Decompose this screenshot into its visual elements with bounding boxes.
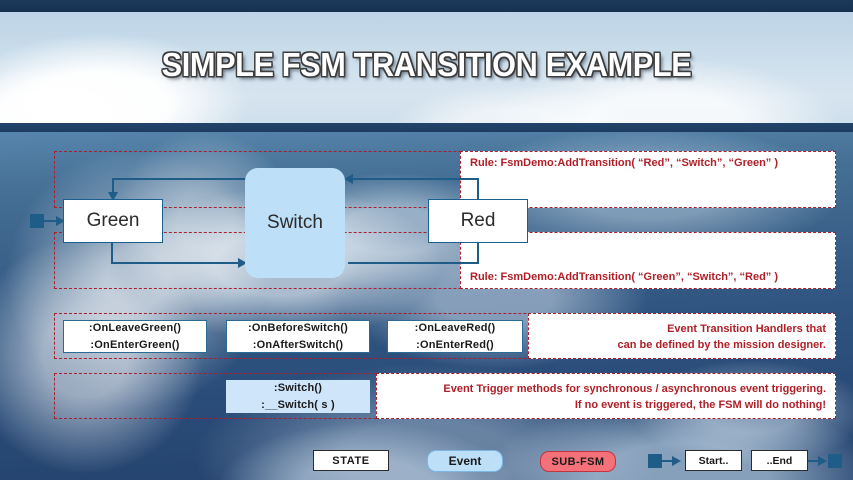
handler-box-red-line2: :OnEnterRed() xyxy=(416,337,494,354)
trigger-box-switch[interactable]: :Switch() :__Switch( s ) xyxy=(226,380,370,413)
triggers-note: Event Trigger methods for synchronous / … xyxy=(386,382,826,414)
state-node-green[interactable]: Green xyxy=(63,199,163,243)
legend-end-arrowhead-icon xyxy=(818,456,827,466)
connector-switch-to-green-horizontal xyxy=(112,178,252,180)
legend-subfsm-box: SUB-FSM xyxy=(540,451,616,472)
legend-end-label: ..End xyxy=(767,455,793,467)
trigger-box-switch-line1: :Switch() xyxy=(274,380,322,397)
connector-switch-to-red-vertical xyxy=(477,242,479,264)
trigger-box-switch-line2: :__Switch( s ) xyxy=(261,397,335,414)
legend-start-box: Start.. xyxy=(685,450,742,471)
handler-box-switch-line2: :OnAfterSwitch() xyxy=(253,337,344,354)
handler-box-switch[interactable]: :OnBeforeSwitch() :OnAfterSwitch() xyxy=(226,320,370,353)
handler-box-red-line1: :OnLeaveRed() xyxy=(415,320,496,337)
event-node-switch[interactable]: Switch xyxy=(245,168,345,278)
handler-box-green[interactable]: :OnLeaveGreen() :OnEnterGreen() xyxy=(63,320,207,353)
state-node-green-label: Green xyxy=(87,209,140,233)
connector-green-to-switch-vertical xyxy=(111,242,113,264)
state-node-red[interactable]: Red xyxy=(428,199,528,243)
handlers-note: Event Transition Handlers that can be de… xyxy=(548,322,826,354)
rule-text-red-switch-green: Rule: FsmDemo:AddTransition( “Red”, “Swi… xyxy=(470,157,778,169)
legend-end-square-icon xyxy=(828,454,842,468)
rule-text-green-switch-red: Rule: FsmDemo:AddTransition( “Green”, “S… xyxy=(470,271,778,283)
connector-red-to-switch-arrowhead xyxy=(344,174,353,184)
handlers-note-line2: can be defined by the mission designer. xyxy=(548,338,826,354)
slide-canvas: SIMPLE FSM TRANSITION EXAMPLE Rule: FsmD… xyxy=(0,0,853,480)
start-marker-square xyxy=(30,214,44,228)
legend-end-box: ..End xyxy=(751,450,808,471)
triggers-note-line2: If no event is triggered, the FSM will d… xyxy=(386,398,826,414)
handlers-note-line1: Event Transition Handlers that xyxy=(548,322,826,338)
header-divider-bar xyxy=(0,123,853,132)
top-navy-bar xyxy=(0,0,853,12)
handler-box-red[interactable]: :OnLeaveRed() :OnEnterRed() xyxy=(387,320,523,353)
legend-state-box: STATE xyxy=(313,450,389,471)
page-title: SIMPLE FSM TRANSITION EXAMPLE xyxy=(30,46,823,84)
connector-green-to-switch-horizontal xyxy=(111,262,243,264)
triggers-note-line1: Event Trigger methods for synchronous / … xyxy=(386,382,826,398)
legend-start-arrowhead-icon xyxy=(672,456,681,466)
legend-start-square-icon xyxy=(648,454,662,468)
legend-event-label: Event xyxy=(449,454,482,468)
legend-event-box: Event xyxy=(427,450,503,472)
legend-subfsm-label: SUB-FSM xyxy=(552,456,605,468)
connector-switch-to-red-horizontal xyxy=(348,262,479,264)
handler-box-switch-line1: :OnBeforeSwitch() xyxy=(248,320,348,337)
legend-state-label: STATE xyxy=(332,455,369,467)
legend-start-label: Start.. xyxy=(699,455,729,467)
connector-red-to-switch-horizontal xyxy=(348,178,479,180)
state-node-red-label: Red xyxy=(461,209,496,233)
handler-box-green-line2: :OnEnterGreen() xyxy=(90,337,179,354)
event-node-switch-label: Switch xyxy=(267,211,323,235)
connector-red-to-switch-vertical xyxy=(477,178,479,200)
handler-box-green-line1: :OnLeaveGreen() xyxy=(89,320,181,337)
